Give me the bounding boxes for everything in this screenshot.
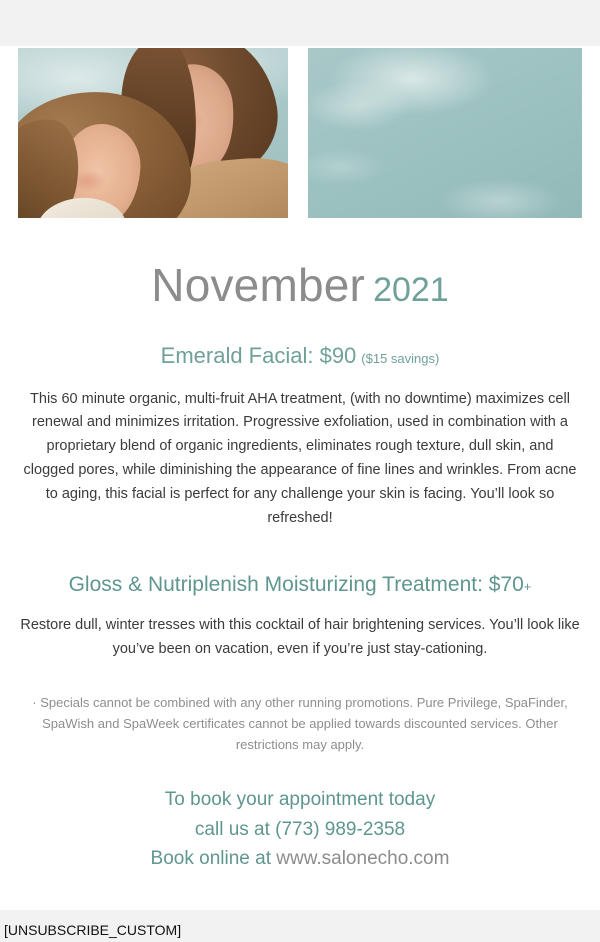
cta-line-online: Book online at www.salonecho.com [14,844,586,873]
fine-print-disclaimer: · Specials cannot be combined with any o… [20,692,580,755]
newsletter-content: November2021 Emerald Facial: $90($15 sav… [0,262,600,874]
cta-line-book: To book your appointment today [14,785,586,814]
cta-online-prefix: Book online at [151,848,277,869]
masthead-month: November [151,259,365,311]
cta-website-link[interactable]: www.salonecho.com [276,848,449,869]
offer-savings-badge: ($15 savings) [361,351,439,366]
offer-title-facial: Emerald Facial: $90($15 savings) [14,342,586,370]
email-newsletter: November2021 Emerald Facial: $90($15 sav… [0,0,600,942]
hero-image-models [18,48,288,218]
booking-cta: To book your appointment today call us a… [14,785,586,873]
hero-image-sky [308,48,582,218]
cta-line-phone: call us at (773) 989-2358 [14,815,586,844]
offer-title-gloss-suffix: + [524,579,532,594]
card-bottom-padding [0,874,600,910]
hero-image-row [0,46,600,218]
sky-photo [308,48,582,218]
masthead-year: 2021 [373,271,449,309]
models-photo [18,48,288,218]
offer-title-gloss-text: Gloss & Nutriplenish Moisturizing Treatm… [69,573,524,596]
email-card: November2021 Emerald Facial: $90($15 sav… [0,46,600,910]
offer-description-gloss: Restore dull, winter tresses with this c… [20,614,580,662]
offer-title-gloss: Gloss & Nutriplenish Moisturizing Treatm… [14,571,586,598]
offer-description-facial: This 60 minute organic, multi-fruit AHA … [20,388,580,532]
masthead: November2021 [14,262,586,308]
offer-title-facial-text: Emerald Facial: $90 [161,343,357,368]
unsubscribe-footer[interactable]: [UNSUBSCRIBE_CUSTOM] [0,910,600,938]
top-gutter [0,0,600,46]
